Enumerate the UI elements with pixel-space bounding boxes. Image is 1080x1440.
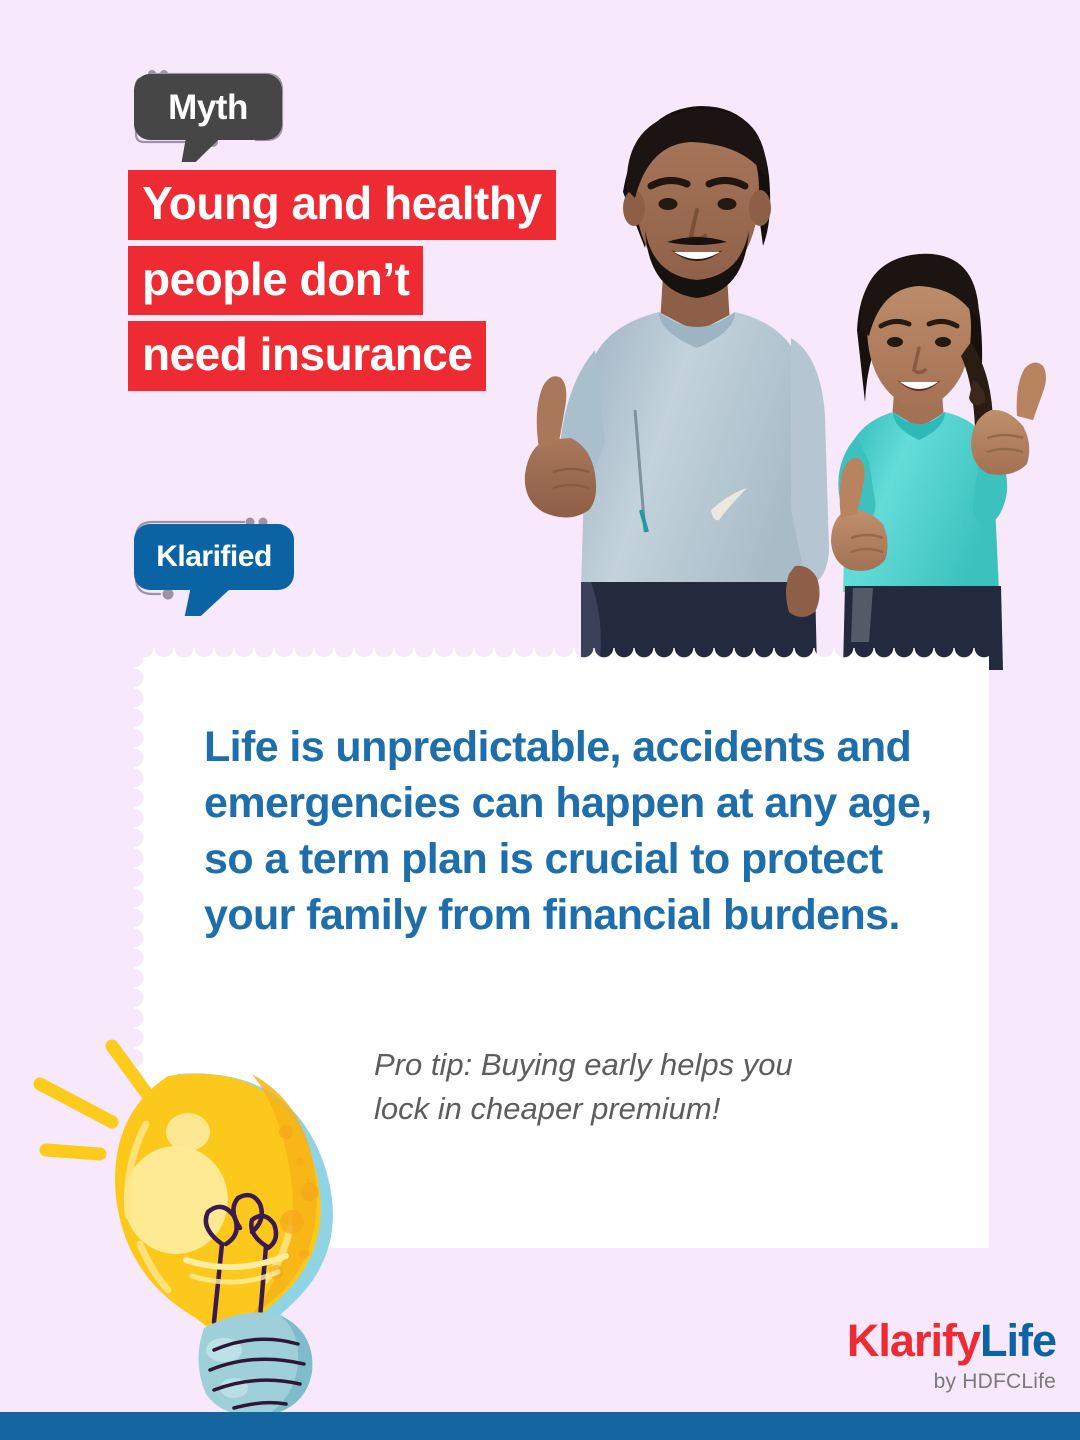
couple-illustration-icon bbox=[495, 80, 1080, 670]
myth-badge: Myth bbox=[116, 62, 301, 164]
klarified-badge-bubble: Klarified bbox=[134, 524, 294, 590]
couple-thumbs-up-photo bbox=[495, 80, 1080, 670]
lightbulb-illustration bbox=[28, 1032, 368, 1432]
pro-tip-text: Pro tip: Buying early helps you lock in … bbox=[374, 1043, 854, 1131]
myth-badge-label: Myth bbox=[168, 90, 248, 125]
klarifylife-logo: KlarifyLife by HDFCLife bbox=[847, 1318, 1056, 1392]
headline-line-1: Young and healthy bbox=[128, 170, 556, 240]
logo-subtitle: by HDFCLife bbox=[847, 1371, 1056, 1392]
myth-badge-bubble: Myth bbox=[134, 74, 282, 140]
card-heading: Life is unpredictable, accidents and eme… bbox=[204, 720, 934, 944]
headline-line-2: people don’t bbox=[128, 246, 423, 316]
logo-life-text: Life bbox=[980, 1315, 1056, 1366]
klarified-badge: Klarified bbox=[116, 512, 301, 614]
klarified-badge-label: Klarified bbox=[156, 542, 272, 572]
bottom-accent-bar bbox=[0, 1412, 1080, 1440]
klarified-badge-tail-icon bbox=[185, 586, 233, 616]
logo-klarify-text: Klarify bbox=[847, 1315, 980, 1366]
poster-canvas: Myth Young and healthy people don’t need… bbox=[0, 0, 1080, 1440]
lightbulb-icon bbox=[28, 1032, 368, 1432]
headline-line-3: need insurance bbox=[128, 321, 486, 391]
logo-wordmark: KlarifyLife bbox=[847, 1318, 1056, 1363]
